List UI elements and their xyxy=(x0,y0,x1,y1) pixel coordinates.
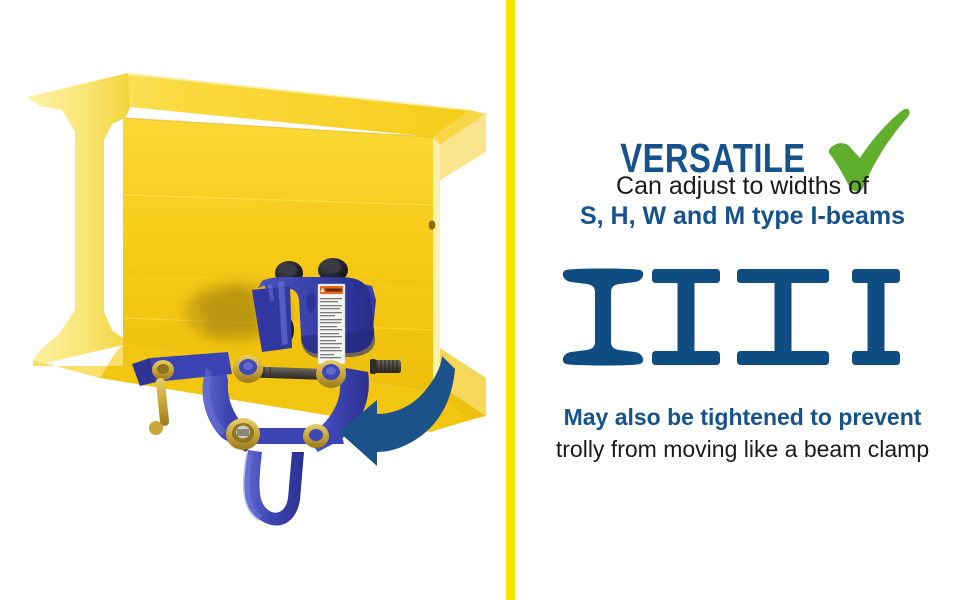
infographic-canvas: VERSATILE Can adjust to widths of S, H, … xyxy=(0,0,970,600)
w-type-beam-icon xyxy=(737,269,829,365)
vertical-yellow-divider xyxy=(506,0,515,600)
warning-label xyxy=(318,284,345,364)
subtitle-line-1: Can adjust to widths of xyxy=(515,172,970,201)
ibeam-type-row xyxy=(515,262,970,372)
suspension-hook-loop xyxy=(243,450,304,526)
m-type-beam-icon xyxy=(852,269,900,365)
product-photo-illustration xyxy=(0,0,500,600)
footer-line-2: trolly from moving like a beam clamp xyxy=(515,436,970,464)
subtitle-line-2: S, H, W and M type I-beams xyxy=(515,202,970,231)
s-type-beam-icon xyxy=(563,269,643,366)
threaded-adjuster-screw xyxy=(370,359,401,374)
h-type-beam-icon xyxy=(652,269,720,365)
footer-line-1: May also be tightened to prevent xyxy=(515,404,970,432)
copy-panel: VERSATILE Can adjust to widths of S, H, … xyxy=(515,0,970,600)
product-photo xyxy=(0,0,500,600)
